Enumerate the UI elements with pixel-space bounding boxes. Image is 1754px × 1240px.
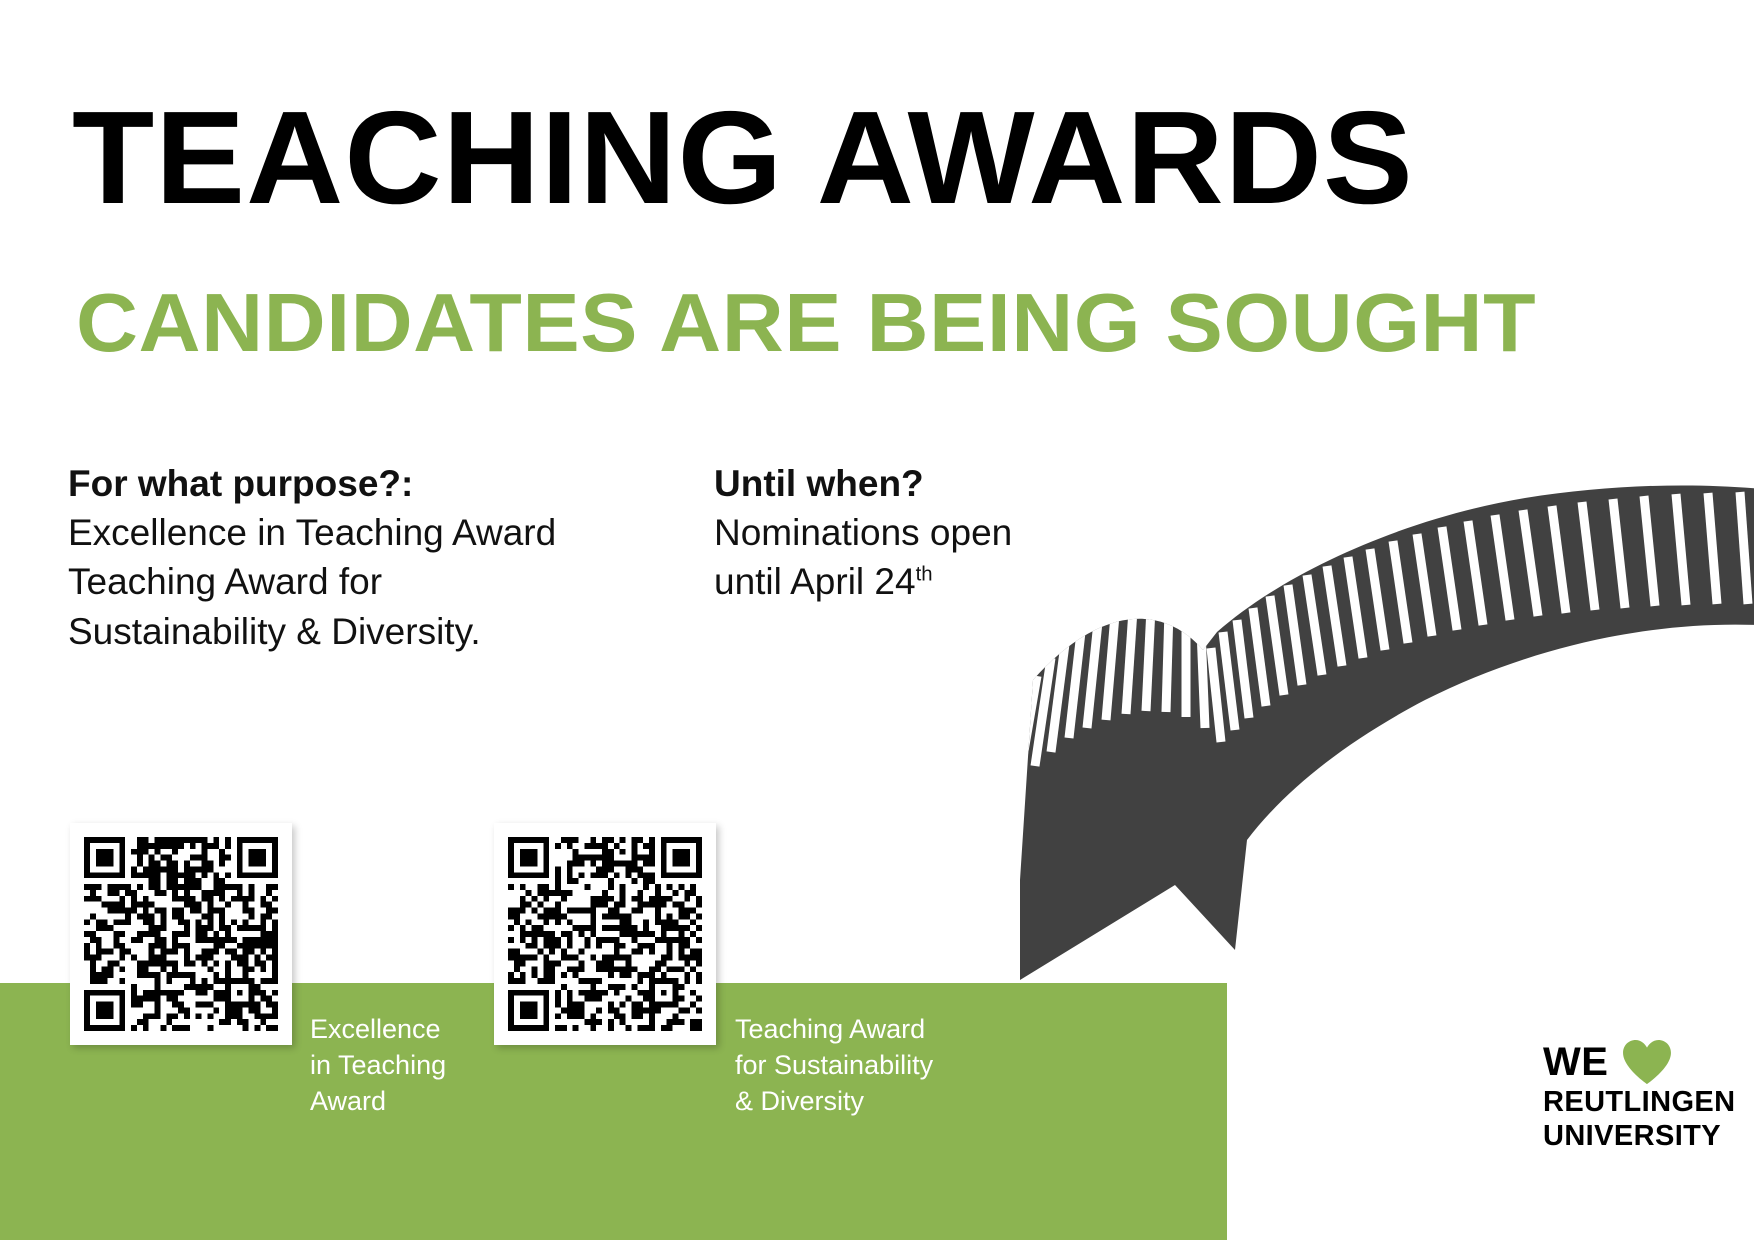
- deadline-date: until April 24: [714, 561, 916, 602]
- deadline-line-1: Nominations open: [714, 508, 1012, 557]
- qr-card-teaching-award-sustainability[interactable]: [494, 823, 716, 1045]
- info-block-deadline: Until when? Nominations open until April…: [714, 459, 1012, 607]
- poster-canvas: TEACHING AWARDS CANDIDATES ARE BEING SOU…: [0, 0, 1754, 1240]
- deadline-question: Until when?: [714, 459, 1012, 508]
- qr-code-icon[interactable]: [508, 837, 702, 1031]
- purpose-line-2: Teaching Award for: [68, 557, 556, 606]
- page-title: TEACHING AWARDS: [72, 92, 1414, 224]
- ribbon-banner-graphic: YOUR VOICE COUNTS!: [985, 480, 1754, 990]
- deadline-line-2: until April 24th: [714, 557, 1012, 606]
- deadline-date-ordinal: th: [916, 564, 933, 586]
- ribbon-text-line-2: COUNTS!: [1297, 805, 1561, 972]
- logo-top-row: WE: [1543, 1038, 1723, 1086]
- qr-caption-excellence: Excellence in Teaching Award: [310, 1012, 446, 1120]
- logo-university-text: UNIVERSITY: [1543, 1120, 1723, 1154]
- qr-caption-sustainability: Teaching Award for Sustainability & Dive…: [735, 1012, 933, 1120]
- qr-code-icon[interactable]: [84, 837, 278, 1031]
- logo-reutlingen-text: REUTLINGEN: [1543, 1086, 1723, 1120]
- logo-we-text: WE: [1543, 1042, 1608, 1082]
- heart-icon: [1622, 1039, 1672, 1085]
- ribbon-text-line-1: YOUR VOICE: [1281, 701, 1639, 895]
- purpose-line-1: Excellence in Teaching Award: [68, 508, 556, 557]
- purpose-question: For what purpose?:: [68, 459, 556, 508]
- info-block-purpose: For what purpose?: Excellence in Teachin…: [68, 459, 556, 656]
- reutlingen-university-logo: WE REUTLINGEN UNIVERSITY: [1543, 1038, 1723, 1153]
- purpose-line-3: Sustainability & Diversity.: [68, 607, 556, 656]
- ribbon-body: [1020, 485, 1754, 980]
- page-subtitle: CANDIDATES ARE BEING SOUGHT: [76, 281, 1536, 364]
- qr-card-excellence-in-teaching-award[interactable]: [70, 823, 292, 1045]
- ribbon-hatching: [1019, 492, 1754, 780]
